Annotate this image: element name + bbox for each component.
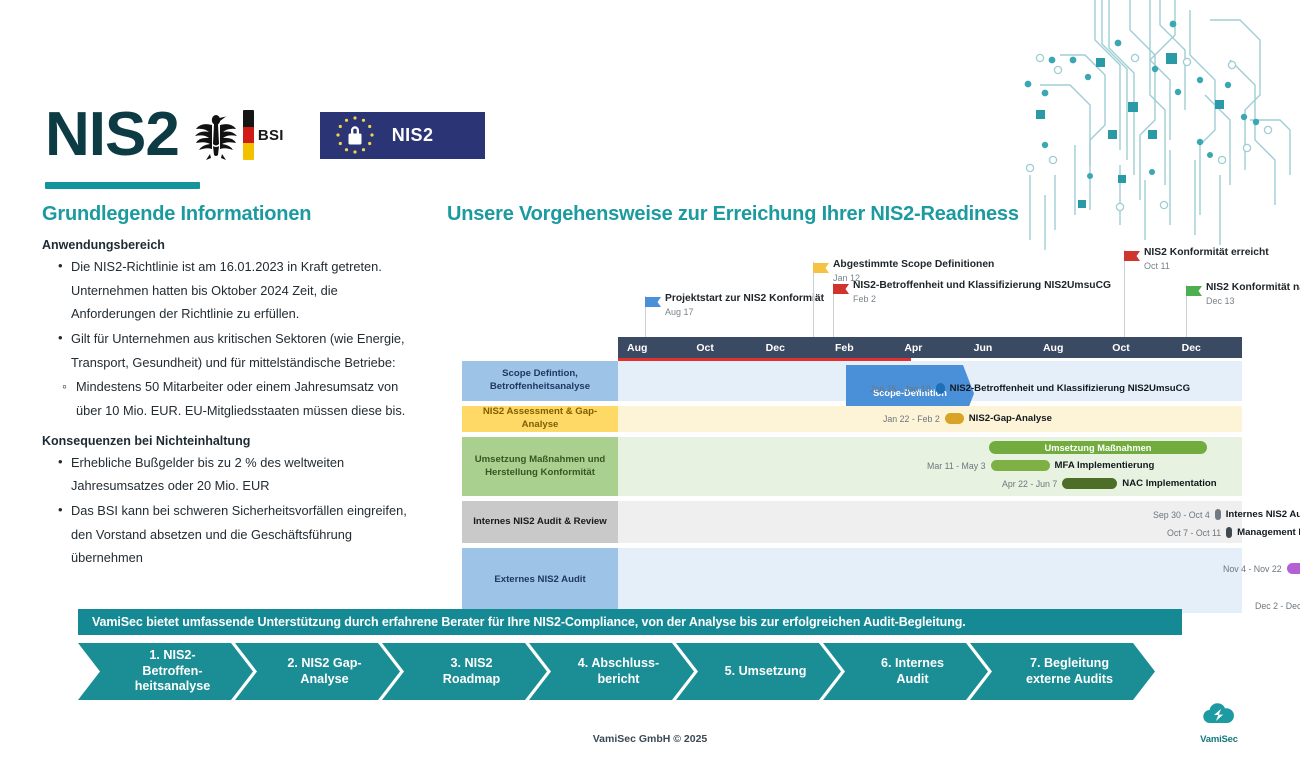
gantt-task[interactable]: Nov 4 - Nov 22Vorbereitung des externen … bbox=[1223, 560, 1300, 597]
circuit-board-decoration bbox=[1000, 0, 1300, 265]
gantt-task-bar[interactable] bbox=[1287, 563, 1300, 574]
gantt-task-name: NIS2-Gap-Analyse bbox=[969, 413, 1052, 424]
eu-badge-label: NIS2 bbox=[392, 125, 434, 146]
gantt-timeline-axis: AugOctDecFebAprJunAugOctDec bbox=[618, 337, 1242, 358]
process-step-label: 3. NIS2 Roadmap bbox=[429, 656, 500, 687]
gantt-task-name: MFA Implementierung bbox=[1055, 460, 1155, 471]
axis-month-label: Dec bbox=[1173, 337, 1242, 358]
gantt-task-bar[interactable] bbox=[991, 460, 1050, 471]
gantt-task[interactable]: Dec 2 - Dec 13Externes Audit bbox=[1255, 600, 1300, 611]
milestone-date: Oct 11 bbox=[1144, 261, 1269, 273]
list-item: Mindestens 50 Mitarbeiter oder einem Jah… bbox=[62, 375, 417, 422]
teal-underline-rule bbox=[45, 182, 200, 189]
gantt-row: Externes NIS2 AuditNov 4 - Nov 22Vorbere… bbox=[462, 548, 1242, 613]
gantt-task-bar[interactable] bbox=[1215, 509, 1221, 520]
milestone-text: NIS2-Betroffenheit und Klassifizierung N… bbox=[853, 280, 1111, 306]
process-step-label: 6. Internes Audit bbox=[867, 656, 944, 687]
process-step-2[interactable]: 2. NIS2 Gap- Analyse bbox=[235, 643, 400, 700]
gantt-task-bar[interactable] bbox=[936, 383, 945, 394]
gantt-task-date: Mar 11 - May 3 bbox=[927, 461, 986, 471]
gantt-task-date: Dec 2 - Dec 13 bbox=[1255, 601, 1300, 611]
gantt-row-body: Scope-DefinitionJan 15 - Jan 19NIS2-Betr… bbox=[618, 361, 1242, 401]
list-item: Das BSI kann bei schweren Sicherheitsvor… bbox=[58, 499, 417, 570]
gantt-task[interactable]: Jan 15 - Jan 19NIS2-Betroffenheit und Kl… bbox=[870, 383, 1190, 394]
bsi-logo: BSI bbox=[193, 109, 284, 161]
process-step-3[interactable]: 3. NIS2 Roadmap bbox=[382, 643, 547, 700]
gantt-row-label: Internes NIS2 Audit & Review bbox=[462, 501, 618, 543]
gantt-summary-bar[interactable]: Umsetzung Maßnahmen bbox=[989, 441, 1207, 454]
axis-month-label: Dec bbox=[757, 337, 826, 358]
milestone-flag-wrap bbox=[1123, 250, 1142, 270]
axis-month-label: Aug bbox=[1034, 337, 1103, 358]
vamisec-logo: VamiSec bbox=[1190, 702, 1248, 745]
section-heading-scope: Anwendungsbereich bbox=[42, 238, 417, 252]
process-step-label: 5. Umsetzung bbox=[711, 664, 807, 679]
slide-canvas: NIS2 BSI bbox=[0, 0, 1300, 757]
flag-icon bbox=[812, 262, 831, 277]
gantt-row-body: Umsetzung MaßnahmenMar 11 - May 3MFA Imp… bbox=[618, 437, 1242, 496]
gantt-task-date: Apr 22 - Jun 7 bbox=[1002, 479, 1057, 489]
list-item: Die NIS2-Richtlinie ist am 16.01.2023 in… bbox=[58, 255, 417, 326]
eu-nis2-badge: NIS2 bbox=[320, 112, 485, 159]
gantt-row-body: Nov 4 - Nov 22Vorbereitung des externen … bbox=[618, 548, 1242, 613]
gantt-bar-caption: Umsetzung Maßnahmen bbox=[989, 441, 1207, 454]
gantt-task-name: NIS2-Betroffenheit und Klassifizierung N… bbox=[950, 383, 1190, 394]
vamisec-cloud-icon bbox=[1202, 702, 1236, 728]
axis-month-label: Apr bbox=[895, 337, 964, 358]
german-flag-bar bbox=[243, 110, 254, 160]
process-step-label: 7. Begleitung externe Audits bbox=[1012, 656, 1113, 687]
gantt-task[interactable]: Oct 7 - Oct 11Management Review bbox=[1167, 527, 1300, 538]
axis-month-label: Jun bbox=[965, 337, 1034, 358]
gantt-row-label: NIS2 Assessment & Gap-Analyse bbox=[462, 406, 618, 432]
logo-cluster: NIS2 BSI bbox=[45, 104, 485, 166]
page-title-left: Grundlegende Informationen bbox=[42, 203, 311, 226]
info-column: Anwendungsbereich Die NIS2-Richtlinie is… bbox=[42, 238, 417, 571]
flag-icon bbox=[832, 283, 851, 298]
gantt-task-name: Management Review bbox=[1237, 527, 1300, 538]
vamisec-logo-text: VamiSec bbox=[1190, 734, 1248, 745]
milestone-title: Abgestimmte Scope Definitionen bbox=[833, 259, 994, 272]
list-item: Gilt für Unternehmen aus kritischen Sekt… bbox=[58, 327, 417, 374]
process-flow: 1. NIS2- Betroffen- heitsanalyse2. NIS2 … bbox=[78, 643, 1190, 700]
gantt-row: Internes NIS2 Audit & ReviewSep 30 - Oct… bbox=[462, 501, 1242, 543]
gantt-task-date: Jan 22 - Feb 2 bbox=[883, 414, 940, 424]
scope-bullet-list: Die NIS2-Richtlinie ist am 16.01.2023 in… bbox=[42, 255, 417, 374]
gantt-row: NIS2 Assessment & Gap-AnalyseJan 22 - Fe… bbox=[462, 406, 1242, 432]
gantt-row-body: Jan 22 - Feb 2NIS2-Gap-Analyse bbox=[618, 406, 1242, 432]
gantt-row: Scope Defintion, BetroffenheitsanalyseSc… bbox=[462, 361, 1242, 401]
axis-month-label: Oct bbox=[687, 337, 756, 358]
gantt-row-label: Externes NIS2 Audit bbox=[462, 548, 618, 613]
scope-sub-bullet-list: Mindestens 50 Mitarbeiter oder einem Jah… bbox=[42, 375, 417, 422]
process-step-4[interactable]: 4. Abschluss- bericht bbox=[529, 643, 694, 700]
axis-month-label: Aug bbox=[618, 337, 687, 358]
gantt-task-name: Internes NIS2 Audit bbox=[1226, 509, 1300, 520]
gantt-task-date: Sep 30 - Oct 4 bbox=[1153, 510, 1210, 520]
gantt-task[interactable]: Sep 30 - Oct 4Internes NIS2 Audit bbox=[1153, 509, 1300, 520]
gantt-task-name: NAC Implementation bbox=[1122, 478, 1216, 489]
flag-icon bbox=[644, 296, 663, 311]
gantt-task-bar[interactable] bbox=[1226, 527, 1232, 538]
milestone-flag-wrap bbox=[812, 262, 831, 282]
milestone-flag-wrap bbox=[832, 283, 851, 303]
gantt-row-label: Umsetzung Maßnahmen und Herstellung Konf… bbox=[462, 437, 618, 496]
milestone-title: Projektstart zur NIS2 Konformiät bbox=[665, 293, 824, 306]
federal-eagle-icon bbox=[193, 109, 239, 161]
milestone-date: Feb 2 bbox=[853, 294, 1111, 306]
milestone-title: NIS2 Konformität nachgewiesen bbox=[1206, 282, 1300, 295]
gantt-task-bar[interactable] bbox=[945, 413, 964, 424]
list-item: Erhebliche Bußgelder bis zu 2 % des welt… bbox=[58, 451, 417, 498]
milestone-flag-wrap bbox=[1185, 285, 1204, 305]
process-step-label: 2. NIS2 Gap- Analyse bbox=[273, 656, 361, 687]
milestone-text: Projektstart zur NIS2 KonformiätAug 17 bbox=[665, 293, 824, 319]
support-banner: VamiSec bietet umfassende Unterstützung … bbox=[78, 609, 1182, 635]
gantt-rows: Scope Defintion, BetroffenheitsanalyseSc… bbox=[462, 361, 1242, 613]
section-heading-consequences: Konsequenzen bei Nichteinhaltung bbox=[42, 434, 417, 448]
process-step-label: 1. NIS2- Betroffen- heitsanalyse bbox=[121, 648, 211, 694]
gantt-row-label: Scope Defintion, Betroffenheitsanalyse bbox=[462, 361, 618, 401]
eu-stars-lock-icon bbox=[334, 114, 376, 156]
milestone-date: Dec 13 bbox=[1206, 296, 1300, 308]
nis2-wordmark: NIS2 bbox=[45, 104, 179, 166]
gantt-task-bar[interactable] bbox=[1062, 478, 1117, 489]
bsi-label: BSI bbox=[258, 127, 284, 144]
gantt-task[interactable]: Jan 22 - Feb 2NIS2-Gap-Analyse bbox=[883, 413, 1052, 424]
gantt-task[interactable]: Apr 22 - Jun 7NAC Implementation bbox=[1002, 478, 1217, 489]
milestone-text: NIS2 Konformität nachgewiesenDec 13 bbox=[1206, 282, 1300, 308]
milestone-date: Aug 17 bbox=[665, 307, 824, 319]
flag-icon bbox=[1123, 250, 1142, 265]
gantt-task-date: Jan 15 - Jan 19 bbox=[870, 384, 931, 394]
page-title-right: Unsere Vorgehensweise zur Erreichung Ihr… bbox=[447, 203, 1019, 226]
gantt-row-body: Sep 30 - Oct 4Internes NIS2 AuditOct 7 -… bbox=[618, 501, 1242, 543]
process-step-1[interactable]: 1. NIS2- Betroffen- heitsanalyse bbox=[78, 643, 253, 700]
milestone-title: NIS2 Konformität erreicht bbox=[1144, 247, 1269, 260]
gantt-task[interactable]: Mar 11 - May 3MFA Implementierung bbox=[927, 460, 1154, 471]
consequences-bullet-list: Erhebliche Bußgelder bis zu 2 % des welt… bbox=[42, 451, 417, 570]
process-step-7[interactable]: 7. Begleitung externe Audits bbox=[970, 643, 1155, 700]
milestone-title: NIS2-Betroffenheit und Klassifizierung N… bbox=[853, 280, 1111, 293]
gantt-row: Umsetzung Maßnahmen und Herstellung Konf… bbox=[462, 437, 1242, 496]
process-step-6[interactable]: 6. Internes Audit bbox=[823, 643, 988, 700]
footer-copyright: VamiSec GmbH © 2025 bbox=[0, 733, 1300, 745]
gantt-task-date: Oct 7 - Oct 11 bbox=[1167, 528, 1221, 538]
axis-month-label: Feb bbox=[826, 337, 895, 358]
process-step-5[interactable]: 5. Umsetzung bbox=[676, 643, 841, 700]
flag-icon bbox=[1185, 285, 1204, 300]
milestone-flag-wrap bbox=[644, 296, 663, 316]
axis-month-label: Oct bbox=[1103, 337, 1172, 358]
gantt-task-date: Nov 4 - Nov 22 bbox=[1223, 564, 1282, 574]
process-step-label: 4. Abschluss- bericht bbox=[564, 656, 659, 687]
milestone-text: NIS2 Konformität erreichtOct 11 bbox=[1144, 247, 1269, 273]
